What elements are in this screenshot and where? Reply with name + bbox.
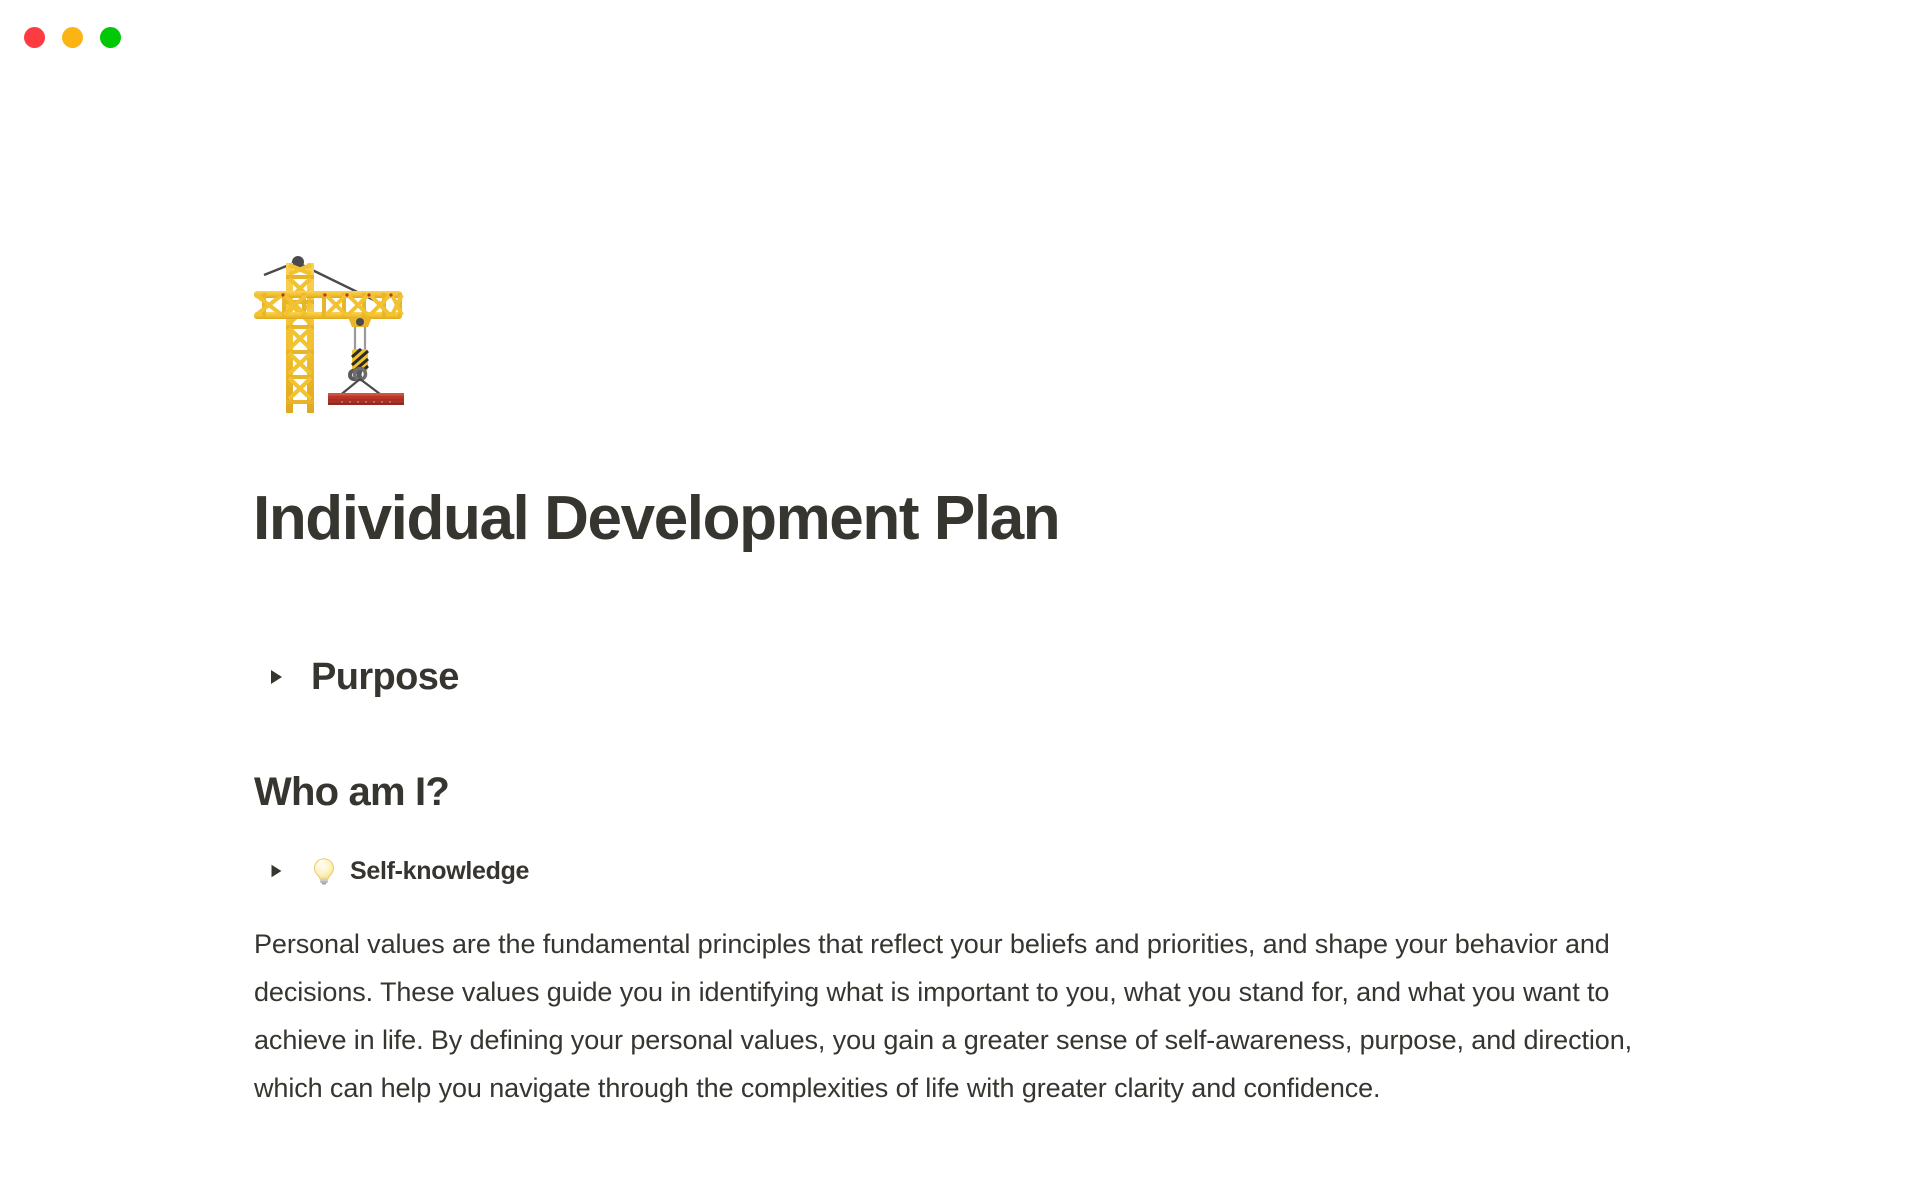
paragraph-personal-values[interactable]: Personal values are the fundamental prin… <box>254 920 1674 1112</box>
light-bulb-icon <box>309 856 339 886</box>
heading-who-am-i: Who am I? <box>254 770 449 815</box>
chevron-right-icon[interactable] <box>266 861 286 881</box>
window-titlebar <box>0 0 1920 62</box>
toggle-label-self-knowledge: Self-knowledge <box>350 857 529 886</box>
traffic-light-group <box>24 27 121 48</box>
chevron-right-icon[interactable] <box>265 666 287 688</box>
toggle-block-self-knowledge[interactable]: Self-knowledge <box>255 850 529 892</box>
close-window-button[interactable] <box>24 27 45 48</box>
construction-crane-icon[interactable] <box>250 245 422 417</box>
minimize-window-button[interactable] <box>62 27 83 48</box>
maximize-window-button[interactable] <box>100 27 121 48</box>
page-title[interactable]: Individual Development Plan <box>253 485 1059 553</box>
toggle-label-purpose: Purpose <box>311 656 459 699</box>
toggle-block-purpose[interactable]: Purpose <box>255 650 459 704</box>
document-page: Individual Development Plan Purpose Who … <box>0 0 1920 1200</box>
